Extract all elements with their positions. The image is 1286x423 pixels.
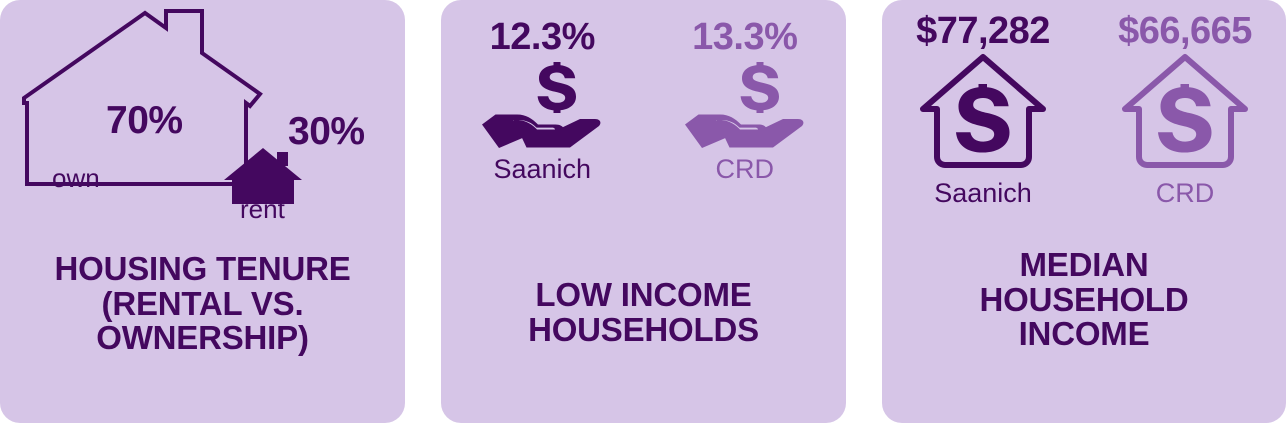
panel-title-line: OWNERSHIP) — [8, 321, 397, 356]
stat-saanich-low-income: 12.3% Saanich — [441, 18, 644, 183]
hand-holding-dollar-icon — [685, 62, 805, 148]
stat-value: 12.3% — [490, 18, 595, 56]
hand-holding-dollar-icon — [482, 62, 602, 148]
panel-title-line: LOW INCOME — [455, 278, 832, 313]
stat-label: Saanich — [934, 180, 1032, 207]
stat-crd-low-income: 13.3% CRD — [644, 18, 847, 183]
panel-title-line: HOUSEHOLDS — [455, 313, 832, 348]
tenure-rent-label: rent — [240, 194, 285, 225]
tenure-own-percent: 70% — [106, 99, 183, 143]
median-income-stats-row: $77,282 Saanich $66,665 — [882, 12, 1286, 207]
infographic-board: 70% 30% own rent HOUSING TENURE (RENTAL … — [0, 0, 1286, 423]
panel-title-line: HOUSING TENURE — [8, 252, 397, 287]
panel-title-line: INCOME — [902, 317, 1266, 352]
stat-saanich-median-income: $77,282 Saanich — [882, 12, 1084, 207]
stat-label: Saanich — [493, 156, 591, 183]
panel-low-income-households: 12.3% Saanich 13.3% — [441, 0, 846, 423]
tenure-rent-percent: 30% — [288, 110, 365, 154]
panel-title-median-household-income: MEDIAN HOUSEHOLD INCOME — [882, 248, 1286, 352]
stat-value: $66,665 — [1118, 12, 1252, 50]
house-dollar-icon — [919, 51, 1047, 176]
tenure-own-label: own — [52, 163, 100, 194]
panel-title-line: MEDIAN — [902, 248, 1266, 283]
stat-value: $77,282 — [916, 12, 1050, 50]
stat-label: CRD — [716, 156, 775, 183]
stat-crd-median-income: $66,665 CRD — [1084, 12, 1286, 207]
panel-title-line: (RENTAL VS. — [8, 287, 397, 322]
panel-median-household-income: $77,282 Saanich $66,665 — [882, 0, 1286, 423]
panel-housing-tenure: 70% 30% own rent HOUSING TENURE (RENTAL … — [0, 0, 405, 423]
panel-title-low-income-households: LOW INCOME HOUSEHOLDS — [441, 278, 846, 347]
stat-value: 13.3% — [692, 18, 797, 56]
house-dollar-icon — [1121, 51, 1249, 176]
panel-title-housing-tenure: HOUSING TENURE (RENTAL VS. OWNERSHIP) — [0, 252, 405, 356]
panel-title-line: HOUSEHOLD — [902, 283, 1266, 318]
stat-label: CRD — [1156, 180, 1215, 207]
low-income-stats-row: 12.3% Saanich 13.3% — [441, 18, 846, 183]
